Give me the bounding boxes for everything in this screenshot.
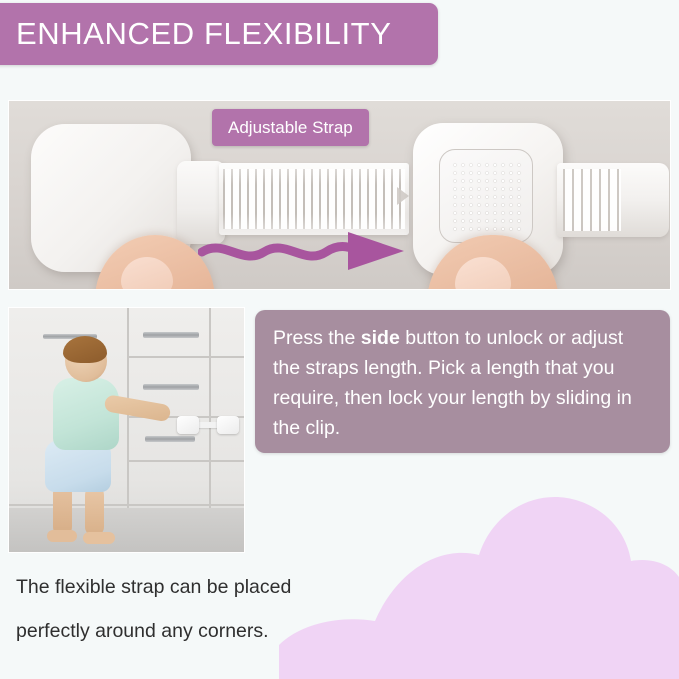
page-title: ENHANCED FLEXIBILITY (16, 16, 391, 52)
drawer-handle (143, 332, 199, 338)
product-feature-graphic: ENHANCED FLEXIBILITY Adjustable Strap (0, 0, 679, 679)
drawer-handle (145, 436, 195, 442)
pad-dot-texture (451, 161, 521, 231)
side-button-triangle-icon (397, 187, 409, 205)
instruction-text-line2: the straps length. Pick a length that yo… (273, 357, 614, 379)
toddler-foot (47, 530, 77, 542)
toddler-hair (63, 336, 107, 363)
cabinet-seam (127, 356, 245, 358)
installed-safety-lock (177, 416, 243, 434)
instruction-panel: Press the side button to unlock or adjus… (255, 310, 670, 453)
header-banner: ENHANCED FLEXIBILITY (0, 3, 438, 65)
lifestyle-photo-toddler-cabinet (8, 307, 245, 553)
instruction-text-post: button to unlock or adjust (400, 327, 623, 349)
bottom-caption-line-1: The flexible strap can be placed (16, 565, 436, 609)
cabinet-seam (9, 504, 245, 506)
installed-lock-pad-a (177, 416, 199, 434)
installed-lock-pad-b (217, 416, 239, 434)
toddler-shirt (53, 378, 119, 450)
instruction-text: Press the side button to unlock or adjus… (273, 323, 652, 443)
instruction-text-bold: side (361, 327, 400, 349)
drawer-handle (143, 384, 199, 390)
cabinet-seam (127, 460, 245, 462)
instruction-text-line3: require, then lock your length by slidin… (273, 387, 632, 409)
lock-left-strap-neck (177, 161, 225, 244)
strap-free-end (557, 163, 669, 237)
instruction-text-pre: Press the (273, 327, 361, 349)
instruction-text-line4: the clip. (273, 417, 340, 439)
toddler-foot (83, 532, 115, 544)
strap-shading (219, 163, 409, 235)
adjustable-strap-label: Adjustable Strap (212, 109, 369, 146)
strap-end-ribs (563, 169, 621, 231)
cabinet-seam (127, 308, 129, 530)
bottom-caption-line-2: perfectly around any corners. (16, 609, 436, 653)
ribbed-strap-middle (219, 163, 409, 235)
floor (9, 508, 244, 552)
bottom-caption: The flexible strap can be placed perfect… (16, 565, 436, 653)
adjustable-strap-label-text: Adjustable Strap (228, 118, 353, 138)
textured-button-pad (439, 149, 533, 243)
toddler-leg (85, 486, 104, 536)
